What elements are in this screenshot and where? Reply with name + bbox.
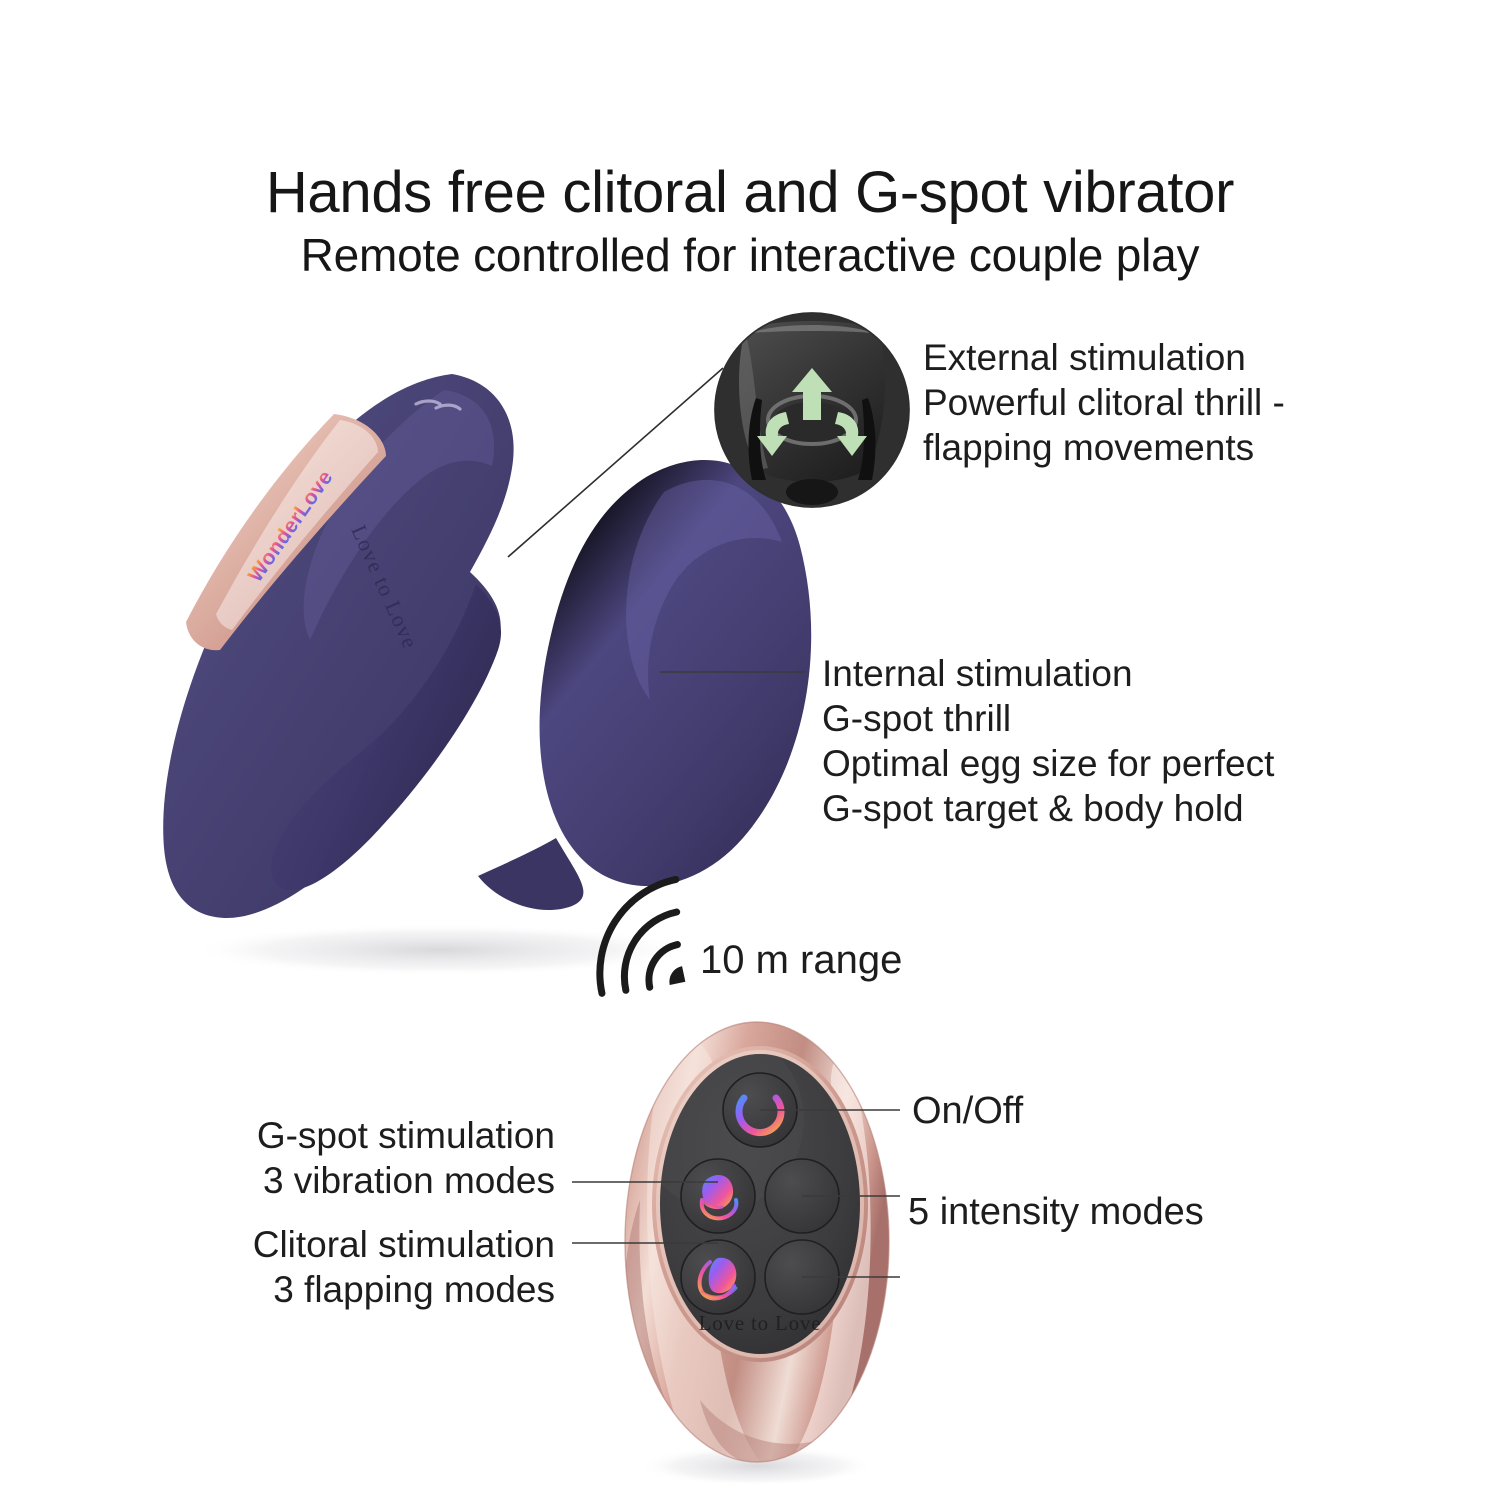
remote-face <box>660 1054 860 1354</box>
callout-internal-line2: G-spot thrill <box>822 696 1274 741</box>
page-subtitle: Remote controlled for interactive couple… <box>0 231 1500 279</box>
callout-gspot-modes: G-spot stimulation 3 vibration modes <box>257 1113 555 1203</box>
egg-vibration-icon <box>702 1175 737 1218</box>
callout-external-line1: External stimulation <box>923 335 1285 380</box>
remote-brand-text: Love to Love <box>699 1311 822 1335</box>
product-body-highlight <box>304 390 494 640</box>
callout-intensity-label: 5 intensity modes <box>908 1189 1204 1235</box>
callout-clitoral-line1: Clitoral stimulation <box>253 1222 555 1267</box>
power-button[interactable] <box>723 1073 797 1147</box>
svg-text:Love to Love: Love to Love <box>346 521 423 653</box>
product-infographic: Hands free clitoral and G-spot vibrator … <box>0 0 1500 1500</box>
product-brand-emboss: Love to Love <box>346 521 423 653</box>
callout-gspot-line1: G-spot stimulation <box>257 1113 555 1158</box>
callout-internal-stimulation: Internal stimulation G-spot thrill Optim… <box>822 651 1274 832</box>
minus-button[interactable] <box>765 1240 839 1314</box>
product-connecting-arm <box>271 584 501 890</box>
power-icon <box>739 1090 781 1133</box>
product-clitoral-body <box>163 374 513 918</box>
product-accent-panel <box>186 414 386 650</box>
product-egg-tail <box>478 838 583 910</box>
product-vibrator: WonderLove Love to Love <box>163 374 811 918</box>
remote-shell <box>625 1022 889 1462</box>
charging-contacts-icon <box>416 401 460 409</box>
remote-shadow <box>639 1446 875 1486</box>
plus-icon <box>782 1176 822 1216</box>
callout-range-label: 10 m range <box>700 936 902 985</box>
callout-gspot-line2: 3 vibration modes <box>257 1158 555 1203</box>
product-egg-highlight <box>626 480 782 700</box>
remote-face-ring <box>652 1046 868 1362</box>
page-title: Hands free clitoral and G-spot vibrator <box>0 163 1500 222</box>
wifi-range-icon <box>582 879 697 999</box>
callout-external-line2: Powerful clitoral thrill - <box>923 380 1285 425</box>
gspot-button[interactable] <box>681 1159 755 1233</box>
flapping-arrows-icon <box>757 368 867 456</box>
leader-line-inset <box>508 368 723 557</box>
callout-external-line3: flapping movements <box>923 425 1285 470</box>
clitoral-flap-icon <box>700 1258 737 1299</box>
clitoral-button[interactable] <box>681 1240 755 1314</box>
callout-internal-line1: Internal stimulation <box>822 651 1274 696</box>
callout-clitoral-line2: 3 flapping modes <box>253 1267 555 1312</box>
callout-onoff-label: On/Off <box>912 1088 1023 1134</box>
callout-internal-line3: Optimal egg size for perfect <box>822 741 1274 786</box>
plus-button[interactable] <box>765 1159 839 1233</box>
illustration-stage: WonderLove Love to Love <box>0 0 1500 1500</box>
inset-clitoral-detail <box>715 308 909 507</box>
product-egg <box>540 460 812 886</box>
svg-text:WonderLove: WonderLove <box>244 466 338 586</box>
product-accent-gloss <box>216 420 378 630</box>
product-shadow <box>190 924 690 976</box>
callout-external-stimulation: External stimulation Powerful clitoral t… <box>923 335 1285 470</box>
callout-clitoral-modes: Clitoral stimulation 3 flapping modes <box>253 1222 555 1312</box>
product-wordmark: WonderLove <box>244 466 338 586</box>
remote-control: Love to Love <box>623 1022 889 1465</box>
callout-internal-line4: G-spot target & body hold <box>822 786 1274 831</box>
